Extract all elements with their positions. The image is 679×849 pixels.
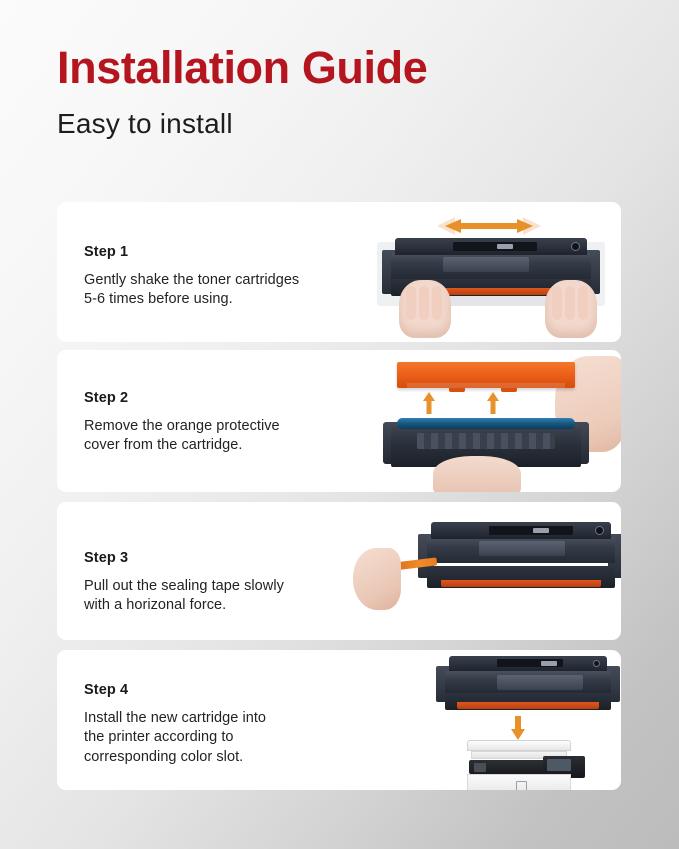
orange-protective-cover	[397, 362, 575, 388]
step-4-label: Step 4	[84, 682, 266, 698]
toner-cartridge	[427, 522, 615, 594]
step-card-3: Step 3 Pull out the sealing tape slowly …	[57, 502, 621, 640]
printer-display-screen	[547, 759, 571, 771]
cartridge-orange-strip	[457, 702, 599, 709]
cartridge-mid-body	[427, 537, 615, 563]
page-subtitle: Easy to install	[57, 108, 427, 140]
finger	[419, 286, 429, 320]
printer-scanner-lid	[467, 740, 571, 751]
hand-pulling-tape	[353, 548, 401, 610]
step-2-description: Remove the orange protective cover from …	[84, 417, 280, 456]
finger	[406, 286, 416, 320]
step-1-text-block: Step 1 Gently shake the toner cartridges…	[84, 244, 299, 310]
printer-cartridge-slot	[469, 760, 547, 774]
up-arrow-icon	[487, 392, 499, 414]
toner-cartridge	[445, 656, 611, 712]
step-card-4: Step 4 Install the new cartridge into th…	[57, 650, 621, 790]
step-2-illustration	[377, 356, 621, 488]
cartridge-label	[453, 242, 537, 251]
cartridge-lower-body	[445, 692, 611, 710]
finger	[432, 286, 442, 320]
double-headed-horizontal-arrow-icon	[437, 216, 541, 236]
printer	[461, 740, 587, 790]
step-3-description: Pull out the sealing tape slowly with a …	[84, 577, 284, 616]
cartridge-body	[427, 522, 615, 594]
step-3-text-block: Step 3 Pull out the sealing tape slowly …	[84, 550, 284, 616]
cartridge-label	[497, 659, 563, 667]
finger	[578, 286, 588, 320]
printer-paper-cassette	[467, 774, 571, 790]
step-card-1: Step 1 Gently shake the toner cartridges…	[57, 202, 621, 342]
step-2-text-block: Step 2 Remove the orange protective cove…	[84, 390, 280, 456]
hand-right	[545, 280, 597, 338]
step-1-description: Gently shake the toner cartridges 5-6 ti…	[84, 271, 299, 310]
cartridge-top-surface	[449, 656, 607, 671]
cartridge-top-surface	[431, 522, 611, 539]
step-4-illustration	[427, 654, 621, 790]
cartridge-gear-port-icon	[593, 660, 600, 667]
cartridge-gear-port-icon	[571, 242, 580, 251]
down-arrow-icon	[511, 716, 525, 740]
hand-supporting-cartridge	[433, 456, 521, 492]
cover-nub	[449, 387, 465, 392]
cartridge-mid-body	[391, 253, 591, 279]
cartridge-mid-body	[445, 671, 611, 693]
toner-cartridge-shaking	[391, 238, 605, 312]
step-2-label: Step 2	[84, 390, 280, 406]
page-title: Installation Guide	[57, 45, 427, 90]
step-4-text-block: Step 4 Install the new cartridge into th…	[84, 682, 266, 767]
cartridge-orange-strip	[441, 580, 601, 587]
step-4-description: Install the new cartridge into the print…	[84, 709, 266, 767]
cover-nub	[501, 387, 517, 392]
step-3-illustration	[357, 514, 619, 626]
drum-roller	[397, 418, 575, 429]
installation-guide-page: Installation Guide Easy to install Step …	[0, 0, 679, 849]
cartridge-body	[445, 656, 611, 712]
cartridge-top-surface	[395, 238, 587, 255]
hand-left	[399, 280, 451, 338]
finger	[552, 286, 562, 320]
finger	[565, 286, 575, 320]
cartridge-gear-port-icon	[595, 526, 604, 535]
step-3-label: Step 3	[84, 550, 284, 566]
header: Installation Guide Easy to install	[57, 45, 427, 140]
cartridge-lower-body	[427, 566, 615, 588]
cartridge-label	[489, 526, 573, 535]
step-card-2: Step 2 Remove the orange protective cove…	[57, 350, 621, 492]
step-1-illustration	[375, 212, 621, 334]
up-arrow-icon	[423, 392, 435, 414]
step-1-label: Step 1	[84, 244, 299, 260]
